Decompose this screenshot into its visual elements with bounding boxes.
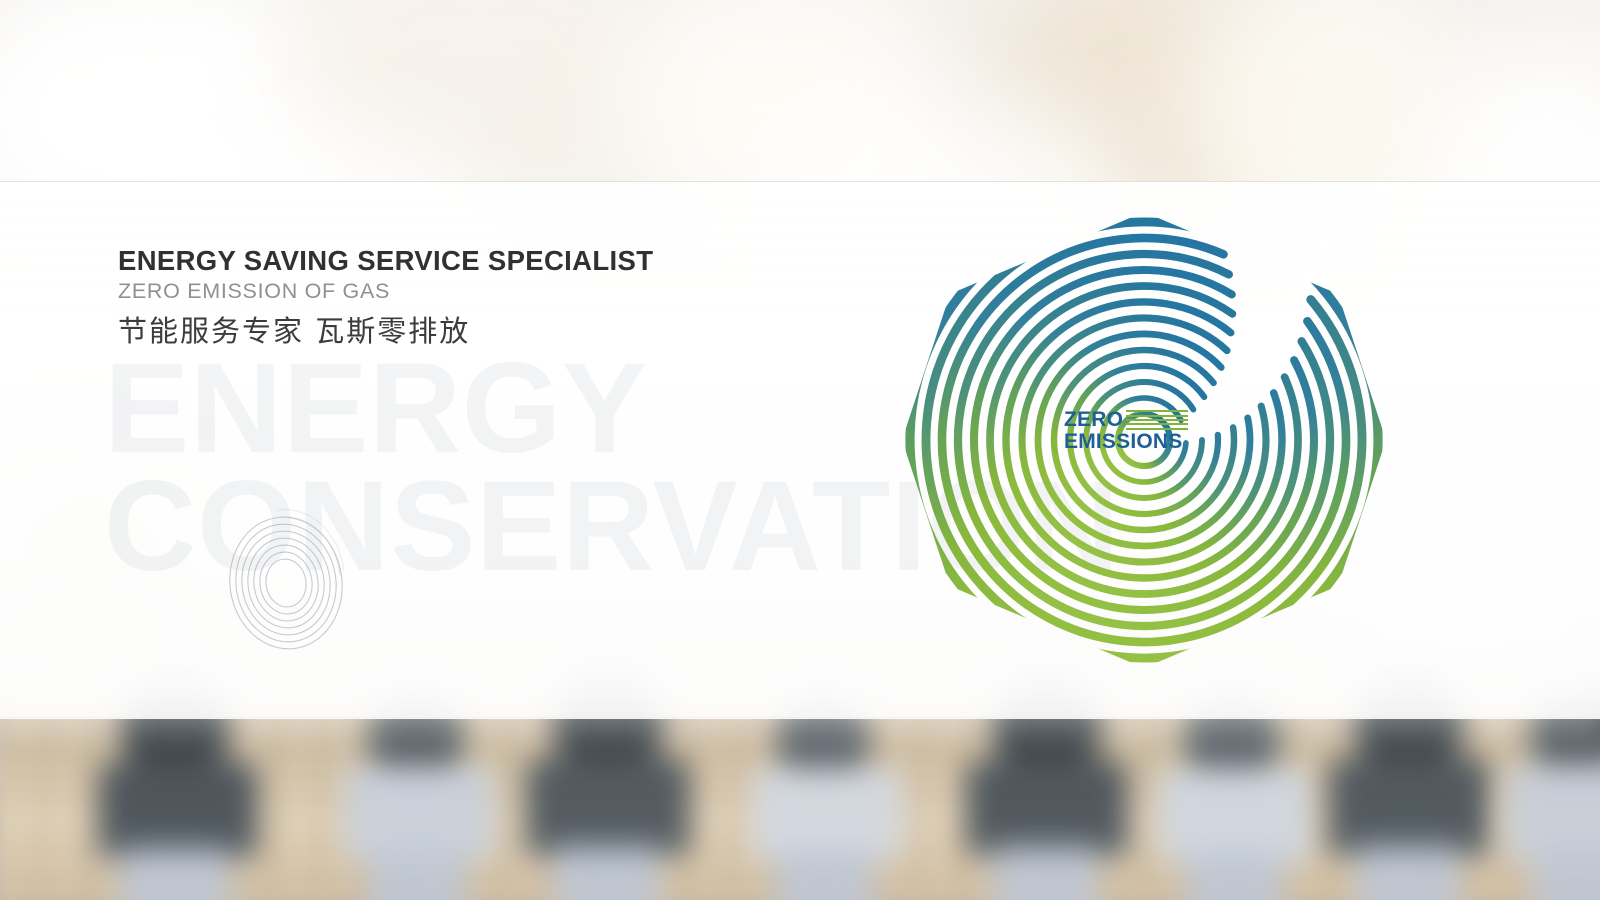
logo-wordmark-zero: ZERO xyxy=(1064,409,1123,430)
logo-wordmark-emissions: EMISSIONS xyxy=(1064,430,1210,455)
watermark-spiral-icon xyxy=(222,505,350,660)
page-subtitle: ZERO EMISSION OF GAS xyxy=(118,279,653,304)
logo-wordmark: ZERO EMISSIONS xyxy=(1064,409,1210,465)
chinese-tagline: 节能服务专家 瓦斯零排放 xyxy=(118,314,653,349)
page-title: ENERGY SAVING SERVICE SPECIALIST xyxy=(118,246,653,276)
panel-bottom-divider xyxy=(0,717,1600,718)
panel-top-divider xyxy=(0,181,1600,182)
logo-green-bars-icon xyxy=(1126,410,1188,430)
banner-stage: ENERGY CONSERVATION ENERGY SAVING SERVIC… xyxy=(0,0,1600,900)
headline-block: ENERGY SAVING SERVICE SPECIALIST ZERO EM… xyxy=(118,246,653,349)
